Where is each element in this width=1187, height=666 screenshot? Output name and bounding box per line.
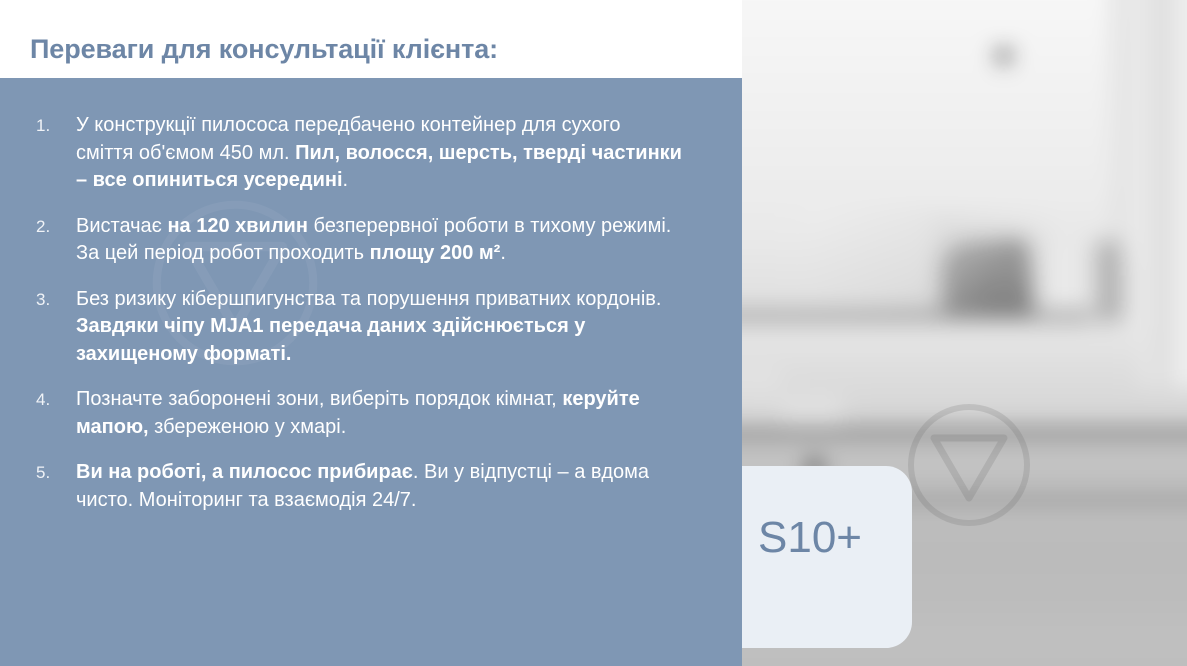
page-title: Переваги для консультації клієнта: — [30, 34, 498, 65]
benefit-text-plain: . — [500, 242, 506, 264]
benefits-panel: 1.У конструкції пилососа передбачено кон… — [0, 78, 742, 666]
benefit-item-marker: 4. — [36, 386, 66, 414]
benefit-text-emphasis: на 120 хвилин — [167, 215, 307, 237]
slide-root: Переваги для консультації клієнта: 1.У к… — [0, 0, 1187, 666]
benefit-item: 2.Вистачає на 120 хвилин безперервної ро… — [0, 213, 742, 268]
benefit-item-text: Вистачає на 120 хвилин безперервної робо… — [76, 215, 671, 265]
benefit-text-plain: . — [343, 169, 349, 191]
benefit-text-plain: Без ризику кібершпигунства та порушення … — [76, 288, 661, 310]
benefit-item-text: Позначте заборонені зони, виберіть поряд… — [76, 388, 640, 438]
benefit-item-marker: 3. — [36, 286, 66, 314]
benefits-list: 1.У конструкції пилососа передбачено кон… — [0, 112, 742, 514]
benefit-item: 5.Ви на роботі, а пилосос прибирає. Ви у… — [0, 459, 742, 514]
model-card-label: S10+ — [758, 513, 896, 563]
benefit-item: 1.У конструкції пилососа передбачено кон… — [0, 112, 742, 195]
benefit-text-emphasis: площу 200 м² — [370, 242, 501, 264]
benefit-item-marker: 5. — [36, 459, 66, 487]
benefit-item-text: Без ризику кібершпигунства та порушення … — [76, 288, 661, 365]
benefit-text-plain: Вистачає — [76, 215, 167, 237]
benefit-text-emphasis: Ви на роботі, а пилосос прибирає — [76, 461, 413, 483]
benefit-text-plain: Позначте заборонені зони, виберіть поряд… — [76, 388, 562, 410]
benefit-text-plain: збереженою у хмарі. — [149, 416, 347, 438]
benefit-item: 3.Без ризику кібершпигунства та порушенн… — [0, 286, 742, 369]
benefit-text-emphasis: Завдяки чіпу MJA1 передача даних здійсню… — [76, 315, 585, 365]
benefit-item-marker: 1. — [36, 112, 66, 140]
model-card: S10+ — [742, 466, 912, 648]
benefit-item: 4.Позначте заборонені зони, виберіть пор… — [0, 386, 742, 441]
benefit-item-marker: 2. — [36, 213, 66, 241]
photo-dark-spot-upper-shape — [995, 48, 1013, 64]
benefit-item-text: Ви на роботі, а пилосос прибирає. Ви у в… — [76, 461, 649, 511]
benefit-item-text: У конструкції пилососа передбачено конте… — [76, 114, 682, 191]
photo-floor-seam-shape — [742, 428, 1187, 440]
photo-seat-shape — [742, 322, 1142, 394]
